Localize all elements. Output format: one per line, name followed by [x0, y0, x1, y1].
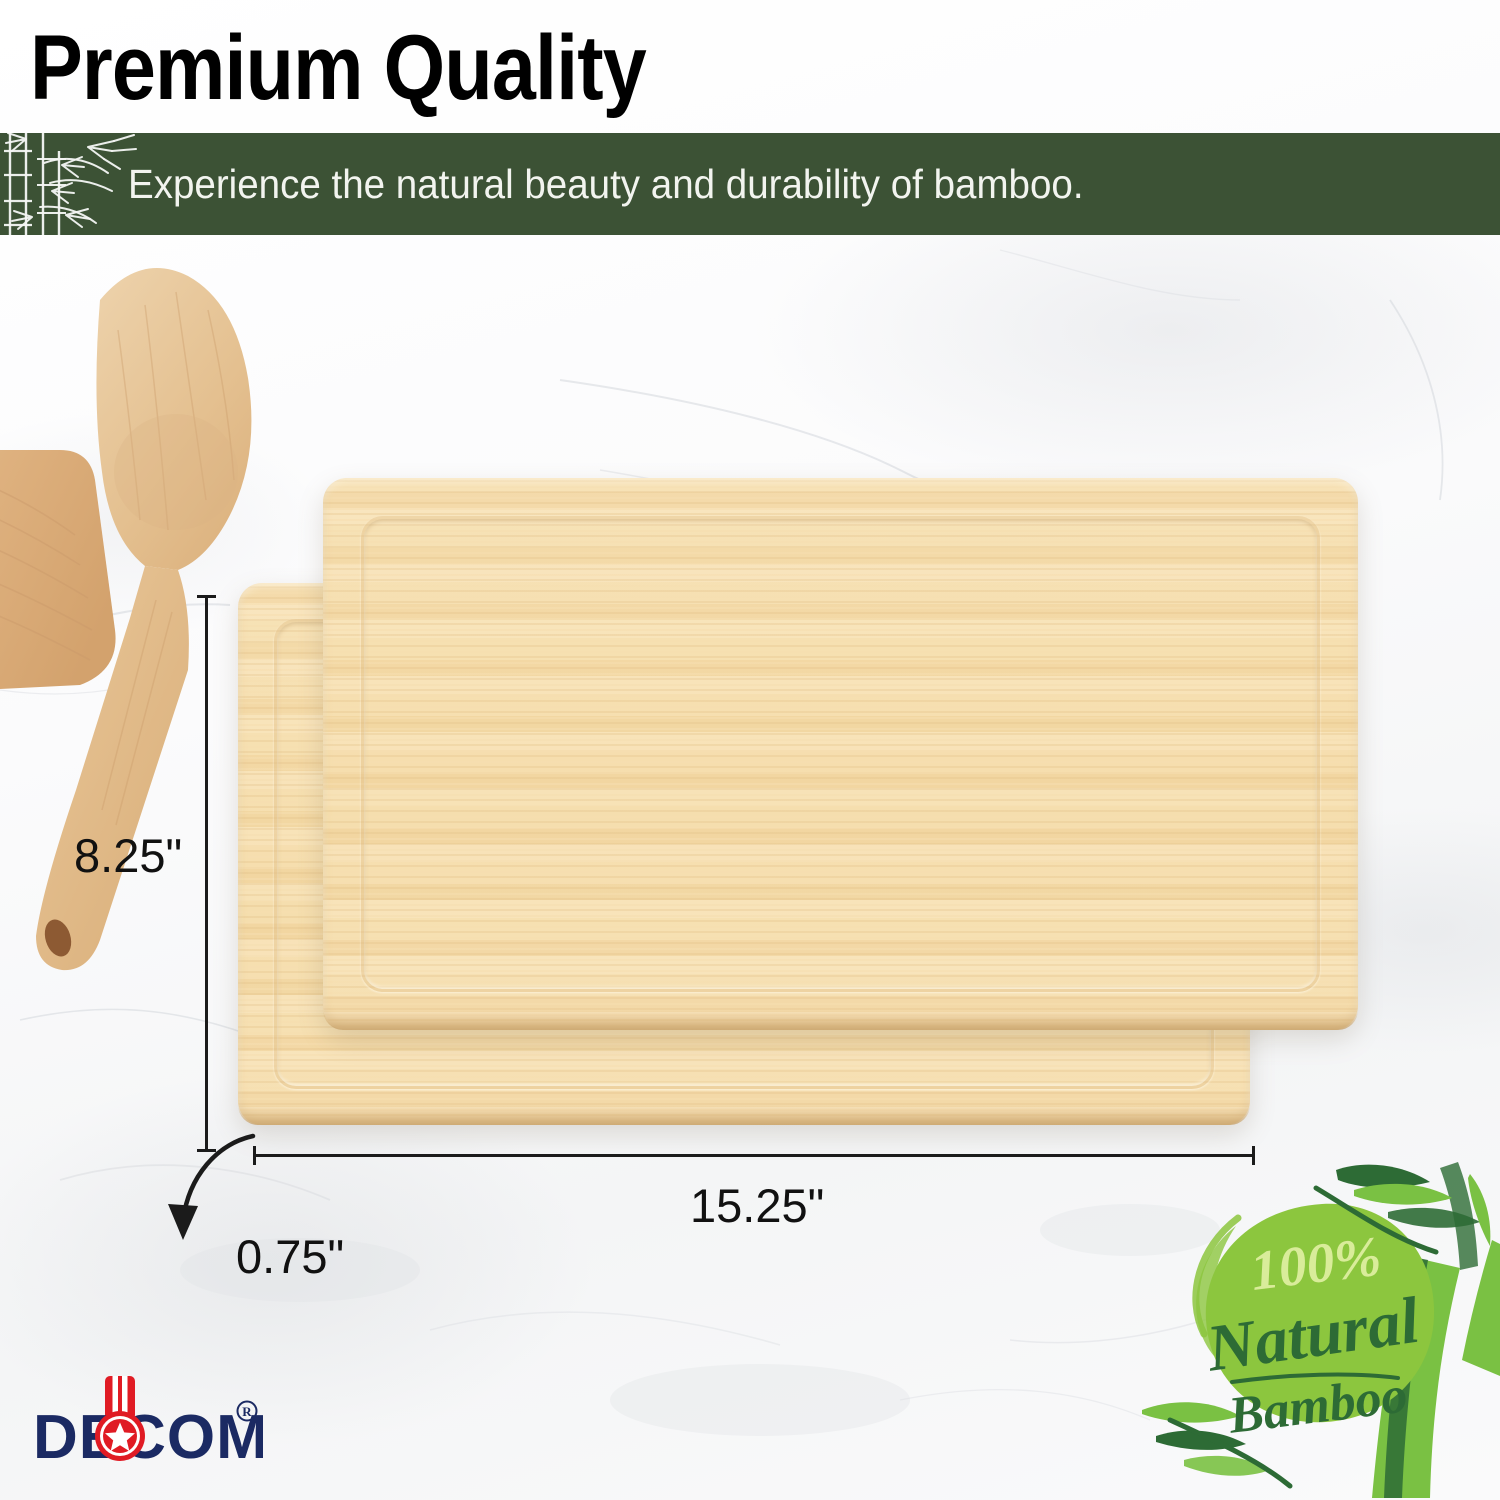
natural-bamboo-badge: 100% Natural Bamboo — [1140, 1160, 1500, 1500]
juice-groove-top — [361, 516, 1320, 992]
width-dimension-line — [254, 1154, 1254, 1157]
svg-text:R: R — [242, 1404, 252, 1419]
tagline-banner: Experience the natural beauty and durabi… — [0, 133, 1500, 235]
width-dimension-label: 15.25" — [690, 1178, 824, 1233]
board-edge-top — [323, 1010, 1358, 1030]
page-title: Premium Quality — [30, 18, 646, 118]
tagline-text: Experience the natural beauty and durabi… — [128, 133, 1084, 235]
decomil-logo: DECOMIL R — [33, 1374, 263, 1486]
height-dimension-line — [205, 596, 208, 1152]
thickness-dimension-label: 0.75" — [236, 1229, 344, 1284]
board-edge-lower — [238, 1105, 1250, 1125]
cutting-board-top — [323, 478, 1358, 1030]
height-dimension-label: 8.25" — [74, 828, 182, 883]
brand-wordmark: DECOMIL — [33, 1403, 263, 1472]
height-tick-top — [197, 595, 216, 598]
medal-star-icon — [95, 1411, 145, 1461]
width-tick-right — [1252, 1146, 1255, 1165]
